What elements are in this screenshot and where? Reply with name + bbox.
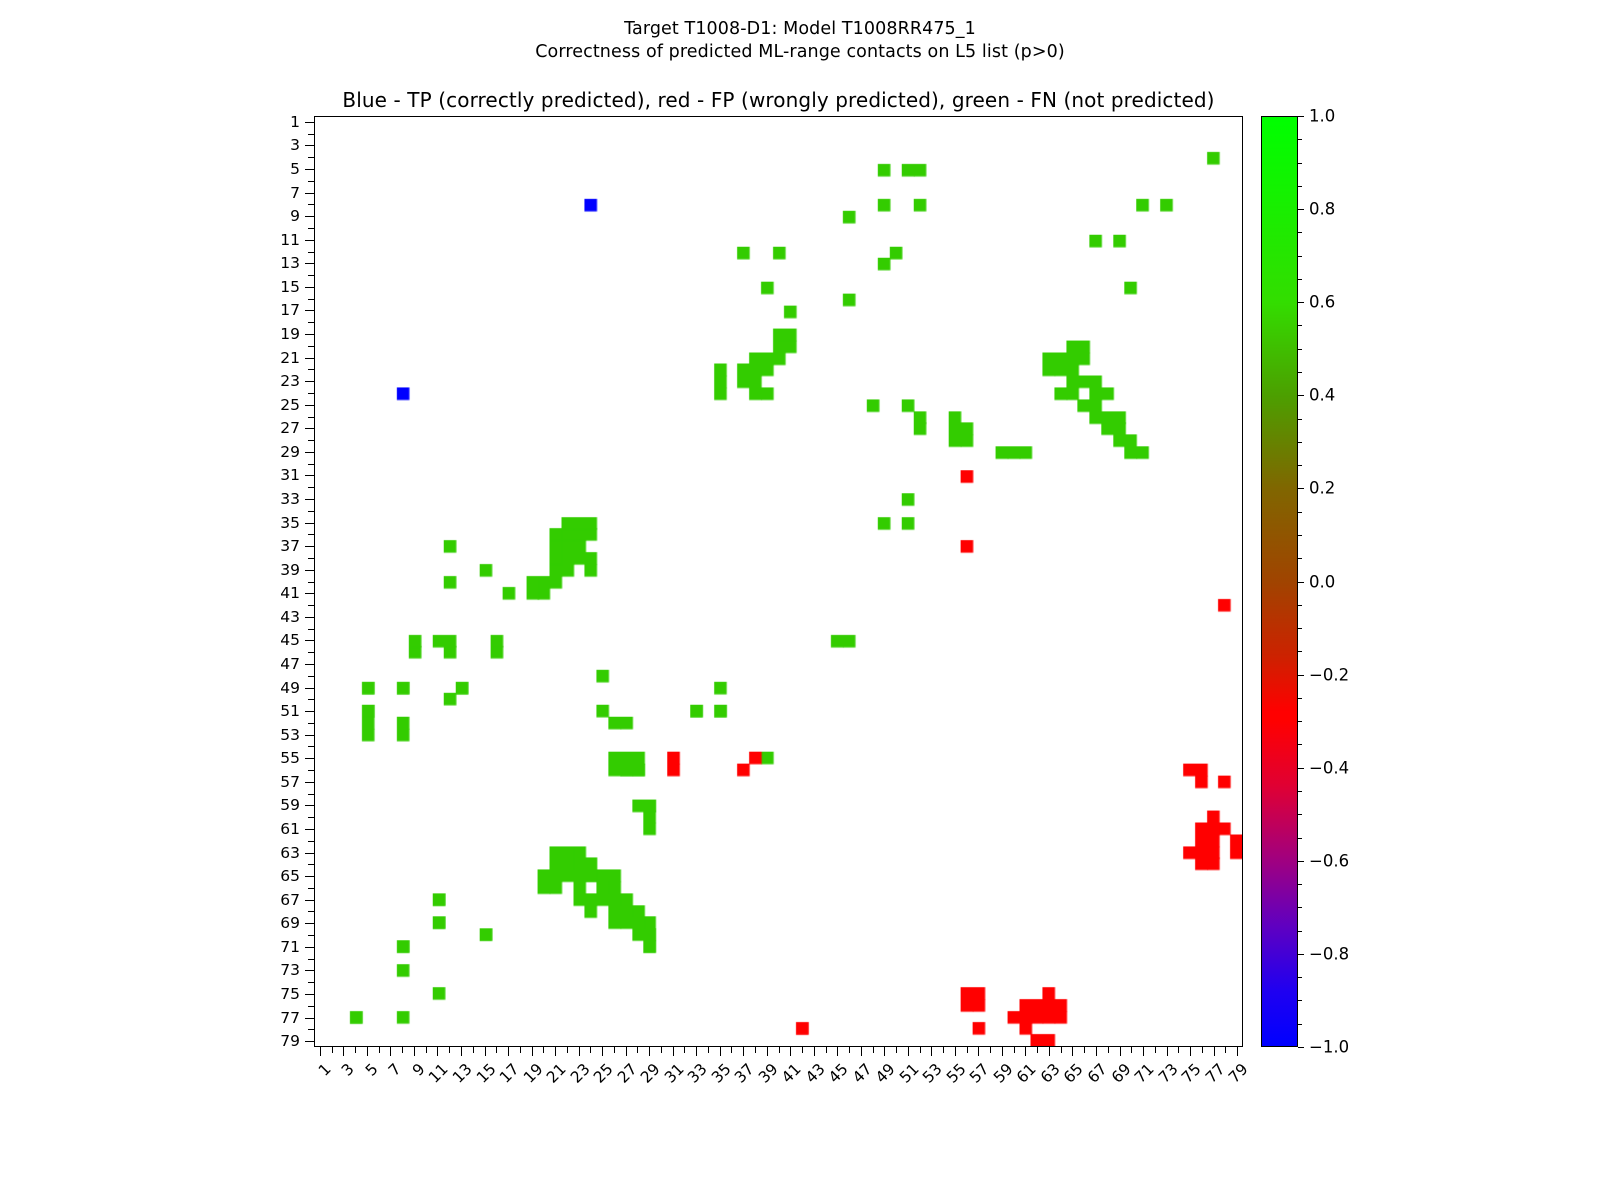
y-tick-19 <box>305 334 314 335</box>
x-tick-32 <box>684 1047 685 1053</box>
x-tick-17 <box>508 1047 509 1056</box>
y-tick-28 <box>308 440 314 441</box>
colorbar-label-−0.4: −0.4 <box>1309 758 1349 777</box>
x-tick-69 <box>1120 1047 1121 1056</box>
x-tick-55 <box>955 1047 956 1056</box>
x-tick-35 <box>720 1047 721 1056</box>
x-tick-24 <box>590 1047 591 1053</box>
y-tick-label-15: 15 <box>248 278 300 296</box>
y-tick-label-45: 45 <box>248 631 300 649</box>
x-tick-71 <box>1143 1047 1144 1056</box>
x-tick-18 <box>520 1047 521 1053</box>
y-tick-16 <box>308 299 314 300</box>
x-tick-56 <box>967 1047 968 1053</box>
colorbar-minor-tick <box>1298 1000 1302 1001</box>
x-tick-50 <box>896 1047 897 1053</box>
y-tick-label-63: 63 <box>248 844 300 862</box>
x-tick-54 <box>943 1047 944 1053</box>
x-tick-15 <box>485 1047 486 1056</box>
y-tick-label-49: 49 <box>248 679 300 697</box>
x-tick-79 <box>1237 1047 1238 1056</box>
y-tick-23 <box>305 381 314 382</box>
colorbar-minor-tick <box>1298 419 1302 420</box>
colorbar-minor-tick <box>1298 349 1302 350</box>
y-tick-label-65: 65 <box>248 867 300 885</box>
y-tick-38 <box>308 558 314 559</box>
colorbar-minor-tick <box>1298 651 1302 652</box>
y-tick-label-29: 29 <box>248 443 300 461</box>
colorbar-minor-tick <box>1298 232 1302 233</box>
y-tick-58 <box>308 794 314 795</box>
x-tick-57 <box>978 1047 979 1056</box>
x-tick-33 <box>696 1047 697 1056</box>
y-tick-27 <box>305 428 314 429</box>
y-tick-65 <box>305 876 314 877</box>
y-tick-label-19: 19 <box>248 325 300 343</box>
colorbar-label-0.6: 0.6 <box>1309 293 1335 312</box>
y-tick-label-13: 13 <box>248 254 300 272</box>
x-tick-27 <box>626 1047 627 1056</box>
x-tick-2 <box>332 1047 333 1053</box>
y-tick-label-69: 69 <box>248 914 300 932</box>
y-tick-label-35: 35 <box>248 514 300 532</box>
y-tick-77 <box>305 1018 314 1019</box>
colorbar-tick-−0.4 <box>1298 768 1304 769</box>
colorbar-minor-tick <box>1298 605 1302 606</box>
x-tick-44 <box>826 1047 827 1053</box>
y-tick-24 <box>308 393 314 394</box>
colorbar-label-−0.6: −0.6 <box>1309 851 1349 870</box>
x-tick-46 <box>849 1047 850 1053</box>
y-tick-18 <box>308 322 314 323</box>
y-tick-72 <box>308 959 314 960</box>
x-tick-16 <box>496 1047 497 1053</box>
colorbar-tick-−0.6 <box>1298 861 1304 862</box>
colorbar-minor-tick <box>1298 698 1302 699</box>
colorbar-gradient <box>1261 116 1298 1047</box>
y-tick-40 <box>308 582 314 583</box>
y-tick-label-79: 79 <box>248 1032 300 1050</box>
x-tick-23 <box>579 1047 580 1056</box>
x-tick-60 <box>1014 1047 1015 1053</box>
y-tick-label-21: 21 <box>248 349 300 367</box>
x-tick-78 <box>1225 1047 1226 1053</box>
y-tick-13 <box>305 263 314 264</box>
y-tick-70 <box>308 935 314 936</box>
colorbar-minor-tick <box>1298 163 1302 164</box>
y-tick-label-33: 33 <box>248 490 300 508</box>
x-tick-48 <box>873 1047 874 1053</box>
y-tick-79 <box>305 1041 314 1042</box>
x-tick-76 <box>1202 1047 1203 1053</box>
y-tick-11 <box>305 240 314 241</box>
y-tick-label-41: 41 <box>248 584 300 602</box>
y-tick-label-67: 67 <box>248 891 300 909</box>
y-tick-label-39: 39 <box>248 561 300 579</box>
x-tick-6 <box>379 1047 380 1053</box>
x-tick-39 <box>767 1047 768 1056</box>
x-tick-9 <box>414 1047 415 1056</box>
x-tick-45 <box>837 1047 838 1056</box>
x-tick-25 <box>602 1047 603 1056</box>
y-tick-56 <box>308 770 314 771</box>
y-tick-63 <box>305 853 314 854</box>
x-tick-58 <box>990 1047 991 1053</box>
x-tick-41 <box>790 1047 791 1056</box>
colorbar-minor-tick <box>1298 791 1302 792</box>
y-tick-8 <box>308 204 314 205</box>
x-tick-59 <box>1002 1047 1003 1056</box>
y-tick-74 <box>308 982 314 983</box>
colorbar-minor-tick <box>1298 325 1302 326</box>
colorbar-minor-tick <box>1298 628 1302 629</box>
x-tick-20 <box>543 1047 544 1053</box>
colorbar-label-0.8: 0.8 <box>1309 200 1335 219</box>
y-tick-44 <box>308 629 314 630</box>
y-tick-label-43: 43 <box>248 608 300 626</box>
y-tick-label-17: 17 <box>248 301 300 319</box>
y-tick-51 <box>305 711 314 712</box>
y-tick-label-61: 61 <box>248 820 300 838</box>
y-tick-29 <box>305 452 314 453</box>
y-tick-10 <box>308 228 314 229</box>
x-tick-43 <box>814 1047 815 1056</box>
y-tick-label-59: 59 <box>248 796 300 814</box>
x-tick-1 <box>320 1047 321 1056</box>
y-tick-label-75: 75 <box>248 985 300 1003</box>
x-tick-7 <box>390 1047 391 1056</box>
y-tick-9 <box>305 216 314 217</box>
y-tick-label-31: 31 <box>248 466 300 484</box>
colorbar-minor-tick <box>1298 1024 1302 1025</box>
colorbar-minor-tick <box>1298 442 1302 443</box>
y-tick-36 <box>308 534 314 535</box>
colorbar-minor-tick <box>1298 721 1302 722</box>
colorbar-label-0.2: 0.2 <box>1309 479 1335 498</box>
x-tick-52 <box>920 1047 921 1053</box>
y-tick-48 <box>308 676 314 677</box>
colorbar-minor-tick <box>1298 535 1302 536</box>
contact-map-canvas[interactable] <box>315 117 1242 1046</box>
y-tick-1 <box>305 122 314 123</box>
y-tick-42 <box>308 605 314 606</box>
colorbar-minor-tick <box>1298 884 1302 885</box>
y-tick-label-51: 51 <box>248 702 300 720</box>
x-tick-37 <box>743 1047 744 1056</box>
y-tick-20 <box>308 346 314 347</box>
colorbar-minor-tick <box>1298 931 1302 932</box>
y-tick-53 <box>305 735 314 736</box>
x-tick-61 <box>1025 1047 1026 1056</box>
x-tick-38 <box>755 1047 756 1053</box>
x-tick-67 <box>1096 1047 1097 1056</box>
x-tick-65 <box>1072 1047 1073 1056</box>
y-tick-label-57: 57 <box>248 773 300 791</box>
x-tick-29 <box>649 1047 650 1056</box>
y-tick-label-37: 37 <box>248 537 300 555</box>
x-tick-74 <box>1178 1047 1179 1053</box>
y-tick-6 <box>308 181 314 182</box>
y-tick-64 <box>308 864 314 865</box>
x-tick-77 <box>1214 1047 1215 1056</box>
colorbar-minor-tick <box>1298 814 1302 815</box>
y-tick-label-55: 55 <box>248 749 300 767</box>
y-tick-label-77: 77 <box>248 1009 300 1027</box>
colorbar-minor-tick <box>1298 838 1302 839</box>
y-tick-26 <box>308 417 314 418</box>
x-tick-31 <box>673 1047 674 1056</box>
colorbar-label-−1.0: −1.0 <box>1309 1038 1349 1057</box>
x-tick-28 <box>637 1047 638 1053</box>
x-tick-47 <box>861 1047 862 1056</box>
y-tick-46 <box>308 652 314 653</box>
y-tick-label-9: 9 <box>248 207 300 225</box>
colorbar-tick-0.0 <box>1298 582 1304 583</box>
y-tick-label-1: 1 <box>248 113 300 131</box>
y-tick-47 <box>305 664 314 665</box>
x-tick-11 <box>437 1047 438 1056</box>
x-tick-53 <box>931 1047 932 1056</box>
colorbar-minor-tick <box>1298 512 1302 513</box>
y-tick-label-5: 5 <box>248 160 300 178</box>
y-tick-31 <box>305 475 314 476</box>
colorbar-tick-−1.0 <box>1298 1047 1304 1048</box>
y-tick-22 <box>308 369 314 370</box>
y-tick-49 <box>305 688 314 689</box>
y-tick-61 <box>305 829 314 830</box>
y-tick-60 <box>308 817 314 818</box>
x-tick-13 <box>461 1047 462 1056</box>
x-tick-22 <box>567 1047 568 1053</box>
y-tick-label-73: 73 <box>248 961 300 979</box>
y-tick-52 <box>308 723 314 724</box>
y-tick-12 <box>308 252 314 253</box>
y-tick-73 <box>305 970 314 971</box>
x-tick-40 <box>779 1047 780 1053</box>
x-tick-63 <box>1049 1047 1050 1056</box>
colorbar-minor-tick <box>1298 465 1302 466</box>
x-tick-73 <box>1167 1047 1168 1056</box>
y-tick-label-47: 47 <box>248 655 300 673</box>
x-tick-42 <box>802 1047 803 1053</box>
y-tick-7 <box>305 193 314 194</box>
x-tick-26 <box>614 1047 615 1053</box>
y-tick-59 <box>305 805 314 806</box>
y-tick-33 <box>305 499 314 500</box>
y-tick-label-71: 71 <box>248 938 300 956</box>
y-tick-37 <box>305 546 314 547</box>
colorbar-minor-tick <box>1298 256 1302 257</box>
x-tick-5 <box>367 1047 368 1056</box>
y-tick-66 <box>308 888 314 889</box>
contact-map-plot[interactable] <box>314 116 1243 1047</box>
colorbar-minor-tick <box>1298 372 1302 373</box>
x-tick-12 <box>449 1047 450 1053</box>
x-tick-30 <box>661 1047 662 1053</box>
axes-title: Blue - TP (correctly predicted), red - F… <box>314 88 1243 112</box>
y-tick-43 <box>305 617 314 618</box>
suptitle-line-1: Target T1008-D1: Model T1008RR475_1 <box>624 19 976 39</box>
y-tick-39 <box>305 570 314 571</box>
y-tick-label-27: 27 <box>248 419 300 437</box>
y-tick-25 <box>305 405 314 406</box>
y-tick-label-23: 23 <box>248 372 300 390</box>
colorbar-minor-tick <box>1298 139 1302 140</box>
x-tick-49 <box>884 1047 885 1056</box>
colorbar-tick-0.6 <box>1298 302 1304 303</box>
y-tick-5 <box>305 169 314 170</box>
x-tick-66 <box>1084 1047 1085 1053</box>
x-tick-72 <box>1155 1047 1156 1053</box>
x-tick-75 <box>1190 1047 1191 1056</box>
y-tick-21 <box>305 358 314 359</box>
y-tick-67 <box>305 900 314 901</box>
x-tick-51 <box>908 1047 909 1056</box>
colorbar[interactable]: 1.00.80.60.40.20.0−0.2−0.4−0.6−0.8−1.0 <box>1261 116 1298 1047</box>
y-tick-label-25: 25 <box>248 396 300 414</box>
y-tick-30 <box>308 464 314 465</box>
x-tick-34 <box>708 1047 709 1053</box>
colorbar-tick-−0.8 <box>1298 954 1304 955</box>
x-tick-19 <box>532 1047 533 1056</box>
y-tick-71 <box>305 947 314 948</box>
y-tick-68 <box>308 911 314 912</box>
y-tick-14 <box>308 275 314 276</box>
y-tick-78 <box>308 1029 314 1030</box>
colorbar-label-−0.2: −0.2 <box>1309 665 1349 684</box>
colorbar-minor-tick <box>1298 744 1302 745</box>
x-tick-4 <box>355 1047 356 1053</box>
y-tick-15 <box>305 287 314 288</box>
y-tick-54 <box>308 746 314 747</box>
x-tick-14 <box>473 1047 474 1053</box>
x-tick-3 <box>343 1047 344 1056</box>
y-tick-label-11: 11 <box>248 231 300 249</box>
figure-suptitle: Target T1008-D1: Model T1008RR475_1Corre… <box>0 18 1600 64</box>
y-tick-75 <box>305 994 314 995</box>
y-tick-label-7: 7 <box>248 184 300 202</box>
x-tick-36 <box>731 1047 732 1053</box>
x-tick-10 <box>426 1047 427 1053</box>
y-tick-55 <box>305 758 314 759</box>
colorbar-tick-0.2 <box>1298 488 1304 489</box>
colorbar-minor-tick <box>1298 558 1302 559</box>
colorbar-tick-0.8 <box>1298 209 1304 210</box>
colorbar-label-1.0: 1.0 <box>1309 107 1335 126</box>
colorbar-label-0.4: 0.4 <box>1309 386 1335 405</box>
x-tick-70 <box>1131 1047 1132 1053</box>
y-tick-2 <box>308 134 314 135</box>
suptitle-line-2: Correctness of predicted ML-range contac… <box>535 42 1065 62</box>
y-tick-35 <box>305 523 314 524</box>
colorbar-label-0.0: 0.0 <box>1309 572 1335 591</box>
y-tick-50 <box>308 699 314 700</box>
colorbar-minor-tick <box>1298 186 1302 187</box>
colorbar-minor-tick <box>1298 907 1302 908</box>
colorbar-minor-tick <box>1298 279 1302 280</box>
y-tick-57 <box>305 782 314 783</box>
y-tick-label-53: 53 <box>248 726 300 744</box>
y-tick-41 <box>305 593 314 594</box>
x-tick-64 <box>1061 1047 1062 1053</box>
y-tick-32 <box>308 487 314 488</box>
colorbar-tick-−0.2 <box>1298 675 1304 676</box>
colorbar-minor-tick <box>1298 977 1302 978</box>
colorbar-tick-1.0 <box>1298 116 1304 117</box>
y-tick-62 <box>308 841 314 842</box>
y-tick-17 <box>305 310 314 311</box>
y-tick-3 <box>305 145 314 146</box>
x-tick-62 <box>1037 1047 1038 1053</box>
y-tick-76 <box>308 1006 314 1007</box>
y-tick-4 <box>308 157 314 158</box>
y-tick-69 <box>305 923 314 924</box>
x-tick-21 <box>555 1047 556 1056</box>
y-tick-34 <box>308 511 314 512</box>
y-tick-label-3: 3 <box>248 136 300 154</box>
y-tick-45 <box>305 640 314 641</box>
x-tick-68 <box>1108 1047 1109 1053</box>
colorbar-tick-0.4 <box>1298 395 1304 396</box>
x-tick-8 <box>402 1047 403 1053</box>
colorbar-label-−0.8: −0.8 <box>1309 944 1349 963</box>
